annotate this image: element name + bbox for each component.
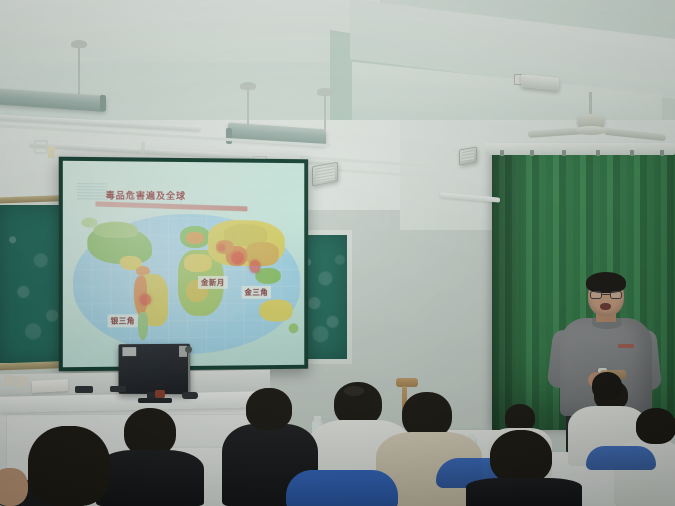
slide-title-underline: [95, 201, 247, 211]
gooseneck-microphone: [188, 350, 190, 394]
student-head: [124, 408, 176, 456]
podium-eraser[interactable]: [110, 386, 126, 392]
pendant-rod-mid: [247, 88, 249, 128]
cable-connector: [155, 390, 165, 398]
slide-surface: 毒品危害遍及全球: [63, 161, 304, 367]
blue-chair-center[interactable]: [286, 470, 398, 506]
map-label-silver-triangle: 银三角: [108, 314, 138, 327]
hotspot-middle-east: [218, 244, 225, 251]
curtain-hook-1: [500, 150, 504, 156]
wall-speaker-right: [459, 146, 477, 165]
glasses-lens-left: [590, 291, 602, 299]
student-shirt: [96, 450, 204, 506]
curtain-hook-2: [530, 150, 534, 156]
landmass-alaska: [81, 218, 97, 228]
student-head: [592, 372, 622, 400]
monitor-sticker: [122, 347, 136, 356]
landmass-australia: [259, 300, 292, 322]
wooden-chair-back[interactable]: [396, 378, 418, 387]
podium-papers-2[interactable]: [4, 375, 29, 387]
rail-bracket-left: [34, 140, 48, 154]
blue-chair-far-right[interactable]: [586, 446, 656, 470]
glasses-lens-right: [610, 291, 622, 299]
tube-end-left: [100, 95, 106, 111]
curtain-rail: [485, 143, 675, 155]
pendant-rod-left: [78, 46, 80, 98]
landmass-canada: [93, 222, 138, 238]
student-face: [0, 468, 28, 506]
tube-end-right: [226, 128, 232, 144]
speaker-grill-right: [462, 150, 474, 162]
ceiling-slab: [0, 0, 380, 62]
projection-screen[interactable]: 毒品危害遍及全球: [59, 157, 308, 372]
curtain-hook-5: [630, 150, 634, 156]
student-center-right-head-overlay: [490, 430, 552, 484]
fan-hub: [575, 126, 607, 135]
classroom-photo: 毒品危害遍及全球: [0, 0, 675, 506]
world-map: 金新月 金三角 银三角: [73, 213, 300, 355]
student-front-left-head-overlay: [28, 426, 110, 506]
curtain-shadow: [492, 150, 532, 430]
presenter-hair: [586, 272, 626, 293]
speaker-grill: [315, 165, 335, 183]
hotspot-golden-triangle: [249, 260, 260, 273]
monitor-base: [138, 398, 172, 403]
landmass-north-africa: [184, 254, 212, 272]
pendant-rod-right: [324, 94, 326, 132]
slide-corner-text: [77, 183, 107, 199]
landmass-west-europe: [186, 232, 204, 244]
landmass-chile: [138, 312, 148, 340]
student-center-right-shoulder-overlay: [466, 478, 582, 506]
desktop-monitor-rear: [119, 344, 191, 394]
hair-highlight: [344, 386, 364, 396]
microphone-capsule: [185, 346, 192, 353]
presenter-shirt-logo: [618, 344, 634, 348]
curtain-hook-4: [596, 150, 600, 156]
podium-papers[interactable]: [32, 379, 69, 393]
student-center-black-head-overlay: [246, 388, 292, 430]
slide-title: 毒品危害遍及全球: [106, 188, 186, 202]
map-label-golden-triangle: 金三角: [242, 286, 272, 299]
hotspot-golden-crescent: [232, 252, 244, 264]
microphone-base: [182, 392, 198, 399]
glasses-icon: [590, 291, 622, 299]
glasses-bridge: [602, 294, 610, 295]
curtain-hook-6: [660, 150, 664, 156]
hotspot-silver-triangle: [140, 294, 151, 305]
podium-remote[interactable]: [75, 386, 93, 393]
landmass-new-zealand: [289, 323, 299, 333]
bottle-cap: [314, 416, 321, 421]
student-far-right-head-overlay: [636, 408, 675, 444]
curtain-hook-3: [562, 150, 566, 156]
presenter-mouth: [600, 303, 611, 310]
rail-clip: [48, 146, 55, 158]
map-label-golden-crescent: 金新月: [198, 276, 228, 289]
rail-post-a: [141, 142, 145, 154]
